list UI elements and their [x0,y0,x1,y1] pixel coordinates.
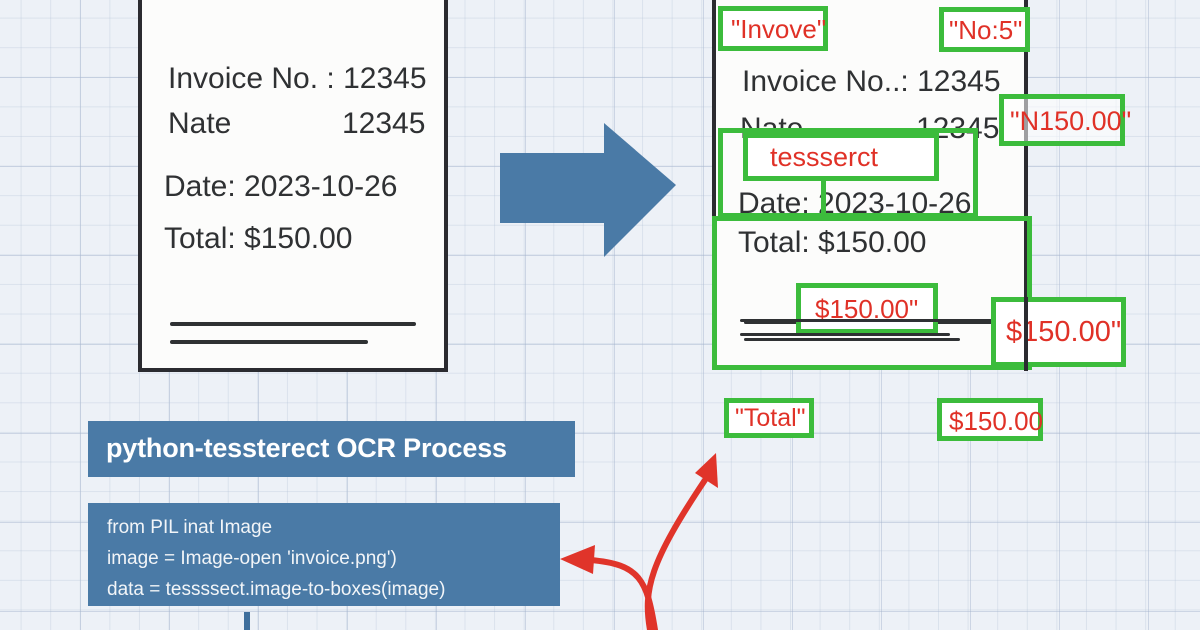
ocr-document-edge-overlay [1024,297,1028,371]
source-line-total: Total: $150.00 [164,222,352,256]
ocr-bbox-total-label[interactable]: "Total" [724,398,814,438]
ocr-label-tessserct: tessserct [770,142,878,173]
source-line-date: Date: 2023-10-26 [164,170,398,204]
flow-arrow-right-icon [500,123,676,257]
ocr-bbox-total-value[interactable]: $150.00 [937,398,1043,441]
code-line-2: image = Image-open 'invoice.png') [107,548,397,570]
ocr-label-total: "Total" [735,404,806,433]
source-line-nate-label: Nate [168,107,231,141]
ocr-line-invoice-no: Invoice No..: 12345 [742,65,1001,99]
source-document: Invoice No. : 12345 Nate 12345 Date: 202… [138,0,448,372]
ocr-bbox-amount-1[interactable]: $150.00" [796,283,938,334]
process-title: python-tessterect OCR Process [106,433,507,464]
ocr-label-no5: "No:5" [949,15,1022,46]
ocr-bbox-tessserct[interactable]: tessserct [743,133,939,181]
ocr-label-n15000: "N150.00" [1010,106,1131,137]
ocr-bbox-no5[interactable]: "No:5" [939,7,1030,52]
source-line-nate-value: 12345 [342,107,425,141]
ocr-bbox-n15000[interactable]: "N150.00" [999,94,1125,146]
process-title-bar: python-tessterect OCR Process [88,421,575,477]
feedback-arrows-icon [555,440,755,630]
code-line-3: data = tessssect.image-to-boxes(image) [107,579,445,601]
source-signature-rule-2 [170,340,368,344]
code-line-1: from PIL inat Image [107,517,272,539]
source-line-invoice-no: Invoice No. : 12345 [168,62,427,96]
ocr-bbox-invove[interactable]: "Invove" [718,6,828,51]
source-document-fold-icon [370,0,460,24]
ocr-bbox-amount-2[interactable]: $150.00" [991,297,1126,367]
code-snippet-panel[interactable]: from PIL inat Image image = Image-open '… [88,503,560,606]
ocr-rule-overlay-1 [740,319,1000,322]
ocr-label-invove: "Invove" [731,14,826,45]
ocr-label-total-value: $150.00 [949,406,1043,437]
ocr-rule-overlay-2 [740,333,950,336]
code-panel-connector [244,612,250,630]
source-signature-rule-1 [170,322,416,326]
